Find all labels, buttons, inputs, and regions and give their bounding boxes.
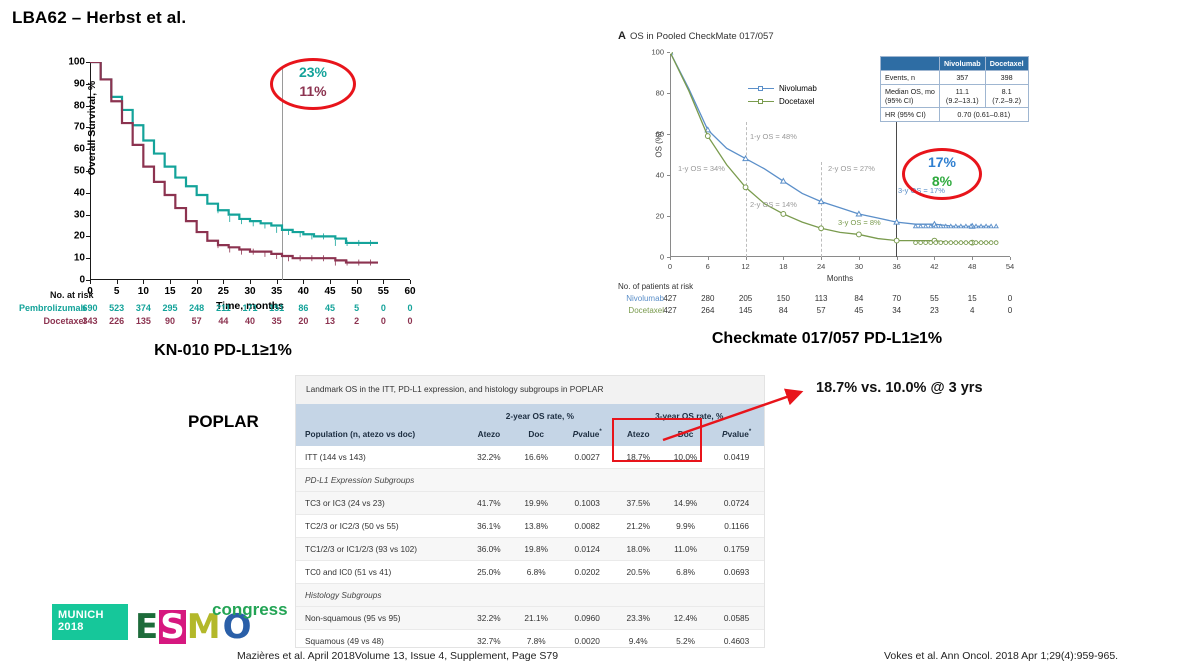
checkmate-x-tick-label: 54 [1006,262,1014,271]
checkmate-x-tick-label: 12 [741,262,749,271]
checkmate-y-tick-label: 100 [651,48,664,57]
checkmate-legend-item-nivolumab: Nivolumab [748,84,817,93]
checkmate-annotation-2y-docetaxel: 2-y OS = 14% [750,200,797,209]
kn010-y-tick-label: 10 [74,253,85,264]
checkmate-annotation-3y-docetaxel: 3-y OS = 8% [838,218,881,227]
poplar-cell-y3-atezo: 23.3% [615,607,662,630]
checkmate-censor-mark [989,241,993,245]
checkmate-risk-cell: 84 [779,306,788,315]
checkmate-risk-cell: 57 [817,306,826,315]
stats-median-docetaxel: 8.1 (7.2–9.2) [985,85,1028,108]
checkmate-y-tick-label: 40 [656,171,664,180]
poplar-cell-y3-doc: 14.9% [662,492,709,515]
kn010-x-tick-label: 20 [191,286,202,297]
poplar-section-row: Histology Subgroups [296,584,764,607]
kn010-risk-cell: 374 [136,303,151,313]
table-row: Squamous (49 vs 48)32.7%7.8%0.00209.4%5.… [296,630,764,649]
median-os-line1: Median OS, mo [885,87,935,96]
table-row: Median OS, mo (95% CI) 11.1 (9.2–13.1) 8… [881,85,1029,108]
kn010-risk-cell: 2 [354,316,359,326]
checkmate-x-tick-label: 30 [855,262,863,271]
kn010-risk-row-label: Pembrolizumab [18,303,86,313]
poplar-cell-y2-p: 0.1003 [560,492,615,515]
table-row: TC1/2/3 or IC1/2/3 (93 vs 102)36.0%19.8%… [296,538,764,561]
kn010-risk-cell: 248 [189,303,204,313]
kn010-x-tick-mark [303,280,304,284]
esmo-munich-badge: MUNICH 2018 [52,604,128,640]
kn010-x-tick-mark [277,280,278,284]
poplar-row-population: Squamous (49 vs 48) [296,630,465,649]
citation-right: Vokes et al. Ann Oncol. 2018 Apr 1;29(4)… [884,650,1118,662]
checkmate-data-marker [856,211,861,216]
checkmate-risk-cell: 45 [854,306,863,315]
kn010-y-tick-label: 100 [68,57,85,68]
esmo-congress-text: congress [212,600,288,620]
checkmate-data-marker [781,212,786,217]
kn010-risk-cell: 0 [381,316,386,326]
poplar-row-population: TC2/3 or IC2/3 (50 vs 55) [296,515,465,538]
checkmate-data-marker [705,134,710,139]
checkmate-chart-panel: AOS in Pooled CheckMate 017/057 OS (%) M… [612,30,1042,330]
checkmate-y-axis-label: OS (%) [655,110,664,180]
poplar-cell-y2-doc: 19.9% [513,492,560,515]
checkmate-data-marker [856,232,861,237]
poplar-cell-y3-p: 0.0693 [709,561,764,584]
poplar-red-note: 18.7% vs. 10.0% @ 3 yrs [816,380,983,396]
checkmate-censor-mark [954,241,958,245]
checkmate-censor-mark [984,241,988,245]
kn010-x-tick-mark [90,280,91,284]
kn010-x-tick-mark [223,280,224,284]
median-docetaxel-value: 8.1 [1002,87,1012,96]
checkmate-censor-mark [944,241,948,245]
table-row: TC3 or IC3 (24 vs 23)41.7%19.9%0.100337.… [296,492,764,515]
poplar-cell-y2-p: 0.0082 [560,515,615,538]
kn010-x-tick-label: 55 [378,286,389,297]
citation-left: Mazières et al. April 2018Volume 13, Iss… [237,650,558,662]
nivolumab-line-icon [748,88,774,89]
poplar-cell-y2-doc: 6.8% [513,561,560,584]
kn010-y-tick-label: 50 [74,166,85,177]
checkmate-panel-title-text: OS in Pooled CheckMate 017/057 [630,31,774,42]
poplar-cell-y3-doc: 11.0% [662,538,709,561]
stats-row-label-median-os: Median OS, mo (95% CI) [881,85,940,108]
checkmate-risk-cell: 264 [701,306,714,315]
kn010-x-tick-label: 15 [164,286,175,297]
checkmate-censor-mark [979,241,983,245]
checkmate-censor-mark [994,241,998,245]
kn010-y-tick-label: 20 [74,231,85,242]
poplar-cell-y2-p: 0.0027 [560,446,615,469]
checkmate-x-tick-mark [1010,257,1011,260]
kn010-risk-cell: 90 [165,316,175,326]
stats-col-blank [881,57,940,71]
checkmate-risk-cell: 23 [930,306,939,315]
checkmate-risk-cell: 84 [854,294,863,303]
checkmate-risk-cell: 205 [739,294,752,303]
kn010-x-tick-label: 60 [404,286,415,297]
kn010-risk-cell: 86 [298,303,308,313]
checkmate-risk-cell: 427 [663,306,676,315]
checkmate-panel-title: AOS in Pooled CheckMate 017/057 [618,30,774,42]
checkmate-y-tick-label: 0 [660,253,664,262]
poplar-cell-y3-p: 0.1759 [709,538,764,561]
poplar-row-population: TC1/2/3 or IC1/2/3 (93 vs 102) [296,538,465,561]
checkmate-legend-item-docetaxel: Docetaxel [748,97,817,106]
checkmate-x-tick-label: 0 [668,262,672,271]
median-nivolumab-value: 11.1 [956,87,969,96]
poplar-cell-y2-doc: 13.8% [513,515,560,538]
poplar-cell-y3-doc: 12.4% [662,607,709,630]
checkmate-censor-mark [984,224,988,228]
table-row: HR (95% CI) 0.70 (0.61–0.81) [881,108,1029,122]
stats-row-label-hr: HR (95% CI) [881,108,940,122]
kn010-x-tick-label: 45 [324,286,335,297]
checkmate-risk-cell: 55 [930,294,939,303]
table-row: TC0 and IC0 (51 vs 41)25.0%6.8%0.020220.… [296,561,764,584]
median-docetaxel-ci: (7.2–9.2) [992,96,1021,105]
kn010-risk-cell: 35 [272,316,282,326]
checkmate-data-marker [894,238,899,243]
poplar-cell-y3-atezo: 20.5% [615,561,662,584]
kn010-x-tick-mark [117,280,118,284]
checkmate-censor-mark [929,241,933,245]
poplar-cell-y2-p: 0.0124 [560,538,615,561]
checkmate-risk-cell: 113 [815,294,828,303]
checkmate-risk-cell: 0 [1008,294,1012,303]
esmo-munich-line2: 2018 [58,621,84,633]
checkmate-censor-mark [954,224,958,228]
kn010-y-tick-label: 90 [74,78,85,89]
checkmate-risk-cell: 4 [970,306,974,315]
checkmate-callout-docetaxel: 8% [902,173,982,189]
kn010-y-tick-label: 0 [79,275,85,286]
checkmate-annotation-1y-nivolumab: 1-y OS = 48% [750,132,797,141]
red-arrow-annotation [655,378,815,448]
kn010-risk-cell: 0 [381,303,386,313]
kn010-risk-cell: 690 [82,303,97,313]
stats-events-docetaxel: 398 [985,71,1028,85]
kn010-x-tick-label: 40 [298,286,309,297]
kn010-x-tick-mark [143,280,144,284]
checkmate-censor-mark [969,241,973,245]
checkmate-censor-mark [964,224,968,228]
checkmate-data-marker [819,199,824,204]
esmo-letter-e: E [134,610,159,644]
kn010-y-tick-label: 30 [74,209,85,220]
kn010-risk-cell: 5 [354,303,359,313]
kn010-callout-docetaxel: 11% [270,83,356,99]
poplar-section-label: PD-L1 Expression Subgroups [296,469,764,492]
table-row: TC2/3 or IC2/3 (50 vs 55)36.1%13.8%0.008… [296,515,764,538]
checkmate-censor-mark [979,224,983,228]
kn010-risk-cell: 57 [192,316,202,326]
kn010-chart-panel: Overall Survival, % Time, months 0102030… [18,52,438,342]
kn010-x-tick-label: 5 [114,286,120,297]
kn010-risk-cell: 0 [407,316,412,326]
kn010-risk-cell: 135 [136,316,151,326]
poplar-cell-y2-atezo: 32.7% [465,630,512,649]
kn010-x-tick-label: 10 [138,286,149,297]
checkmate-x-tick-label: 42 [930,262,938,271]
kn010-risk-cell: 40 [245,316,255,326]
stats-median-nivolumab: 11.1 (9.2–13.1) [939,85,985,108]
poplar-cell-y3-atezo: 21.2% [615,515,662,538]
table-row: Non-squamous (95 vs 95)32.2%21.1%0.09602… [296,607,764,630]
poplar-row-population: ITT (144 vs 143) [296,446,465,469]
checkmate-x-tick-mark [670,257,671,260]
poplar-cell-y2-atezo: 32.2% [465,607,512,630]
kn010-x-tick-mark [330,280,331,284]
checkmate-legend-label-docetaxel: Docetaxel [779,97,815,106]
poplar-cell-y2-doc: 21.1% [513,607,560,630]
poplar-section-row: PD-L1 Expression Subgroups [296,469,764,492]
poplar-group-2yr: 2-year OS rate, % [465,404,614,425]
stats-hr-value: 0.70 (0.61–0.81) [939,108,1028,122]
kn010-risk-cell: 343 [82,316,97,326]
poplar-cell-y3-doc: 9.9% [662,515,709,538]
kn010-caption: KN-010 PD-L1≥1% [58,342,388,360]
kn010-survival-curves [90,62,410,280]
kn010-y-tick-label: 60 [74,144,85,155]
checkmate-risk-row-label: Docetaxel [612,306,664,315]
poplar-col-2yr-pvalue: Pvalue* [560,425,615,446]
checkmate-risk-cell: 0 [1008,306,1012,315]
esmo-congress-logo: MUNICH 2018 ESMO congress [52,600,282,644]
checkmate-x-tick-label: 18 [779,262,787,271]
poplar-cell-y3-atezo: 9.4% [615,630,662,649]
kn010-y-tick-label: 70 [74,122,85,133]
checkmate-censor-mark [989,224,993,228]
checkmate-censor-mark [949,224,953,228]
poplar-cell-y2-doc: 7.8% [513,630,560,649]
stats-row-label-events: Events, n [881,71,940,85]
checkmate-censor-mark [924,241,928,245]
checkmate-censor-mark [959,241,963,245]
checkmate-censor-mark [964,241,968,245]
poplar-cell-y2-p: 0.0960 [560,607,615,630]
slide-canvas: LBA62 – Herbst et al. Overall Survival, … [0,0,1195,671]
kn010-risk-cell: 45 [325,303,335,313]
poplar-cell-y3-p: 0.4603 [709,630,764,649]
kn010-risk-header: No. at risk [50,290,94,300]
checkmate-censor-mark [994,224,998,228]
checkmate-y-tick-label: 80 [656,89,664,98]
kn010-risk-cell: 13 [325,316,335,326]
poplar-cell-y3-p: 0.0419 [709,446,764,469]
checkmate-x-tick-mark [708,257,709,260]
checkmate-censor-mark [939,241,943,245]
checkmate-risk-cell: 70 [892,294,901,303]
kn010-risk-cell: 226 [109,316,124,326]
poplar-row-population: Non-squamous (95 vs 95) [296,607,465,630]
docetaxel-line-icon [748,101,774,102]
poplar-cell-y3-p: 0.0724 [709,492,764,515]
checkmate-x-tick-mark [746,257,747,260]
poplar-cell-y2-atezo: 32.2% [465,446,512,469]
poplar-cell-y2-doc: 16.6% [513,446,560,469]
checkmate-censor-mark [959,224,963,228]
poplar-cell-y3-p: 0.0585 [709,607,764,630]
checkmate-risk-row-label: Nivolumab [612,294,664,303]
kn010-risk-cell: 151 [269,303,284,313]
checkmate-x-tick-mark [972,257,973,260]
checkmate-legend: Nivolumab Docetaxel [748,84,817,110]
kn010-x-tick-label: 30 [244,286,255,297]
page-title: LBA62 – Herbst et al. [12,8,186,28]
median-os-line2: (95% CI) [885,96,913,105]
poplar-row-population: TC0 and IC0 (51 vs 41) [296,561,465,584]
poplar-section-label: Histology Subgroups [296,584,764,607]
checkmate-x-tick-label: 6 [706,262,710,271]
kn010-x-tick-mark [357,280,358,284]
checkmate-x-tick-label: 24 [817,262,825,271]
poplar-col-2yr-doc: Doc [513,425,560,446]
checkmate-risk-cell: 427 [663,294,676,303]
checkmate-stats-table: Nivolumab Docetaxel Events, n 357 398 Me… [880,56,1029,122]
poplar-cell-y2-p: 0.0202 [560,561,615,584]
checkmate-annotation-1y-docetaxel: 1-y OS = 34% [678,164,725,173]
poplar-group-blank [296,404,465,425]
poplar-cell-y2-atezo: 36.1% [465,515,512,538]
kn010-x-tick-label: 50 [351,286,362,297]
kn010-risk-cell: 20 [298,316,308,326]
poplar-col-population: Population (n, atezo vs doc) [296,425,465,446]
checkmate-y-tick-label: 20 [656,212,664,221]
kn010-risk-cell: 171 [242,303,257,313]
checkmate-censor-mark [919,241,923,245]
kn010-x-tick-mark [250,280,251,284]
checkmate-x-tick-mark [783,257,784,260]
kn010-risk-cell: 523 [109,303,124,313]
kn010-risk-cell: 44 [218,316,228,326]
poplar-cell-y2-atezo: 36.0% [465,538,512,561]
poplar-cell-y3-p: 0.1166 [709,515,764,538]
checkmate-panel-letter: A [618,30,626,42]
median-nivolumab-ci: (9.2–13.1) [946,96,979,105]
checkmate-x-tick-label: 36 [892,262,900,271]
checkmate-legend-label-nivolumab: Nivolumab [779,84,817,93]
checkmate-x-tick-mark [821,257,822,260]
poplar-cell-y3-atezo: 18.0% [615,538,662,561]
stats-col-docetaxel: Docetaxel [985,57,1028,71]
kn010-y-tick-label: 80 [74,100,85,111]
checkmate-risk-cell: 15 [968,294,977,303]
poplar-col-2yr-atezo: Atezo [465,425,512,446]
stats-events-nivolumab: 357 [939,71,985,85]
poplar-cell-y2-doc: 19.8% [513,538,560,561]
kn010-x-tick-label: 25 [218,286,229,297]
checkmate-data-marker [819,226,824,231]
table-row: Events, n 357 398 [881,71,1029,85]
poplar-cell-y2-atezo: 25.0% [465,561,512,584]
poplar-cell-y3-doc: 6.8% [662,561,709,584]
checkmate-risk-cell: 280 [701,294,714,303]
poplar-cell-y2-p: 0.0020 [560,630,615,649]
kn010-risk-row-label: Docetaxel [18,316,86,326]
kn010-x-tick-mark [410,280,411,284]
checkmate-censor-mark [974,241,978,245]
checkmate-x-tick-mark [934,257,935,260]
checkmate-risk-cell: 145 [739,306,752,315]
poplar-row-population: TC3 or IC3 (24 vs 23) [296,492,465,515]
checkmate-risk-header: No. of patients at risk [618,282,693,291]
checkmate-x-tick-label: 48 [968,262,976,271]
checkmate-risk-cell: 34 [892,306,901,315]
checkmate-censor-mark [914,241,918,245]
kn010-risk-cell: 295 [162,303,177,313]
esmo-letter-s: S [159,610,186,644]
kn010-callout-pembrolizumab: 23% [270,64,356,80]
poplar-cell-y3-atezo: 37.5% [615,492,662,515]
checkmate-censor-mark [949,241,953,245]
kn010-risk-cell: 0 [407,303,412,313]
checkmate-data-marker [743,156,748,161]
kn010-y-tick-label: 40 [74,187,85,198]
table-header-row: Nivolumab Docetaxel [881,57,1029,71]
checkmate-x-tick-mark [897,257,898,260]
checkmate-callout-nivolumab: 17% [902,154,982,170]
poplar-cell-y3-doc: 5.2% [662,630,709,649]
kn010-x-tick-label: 35 [271,286,282,297]
kn010-x-tick-mark [383,280,384,284]
stats-col-nivolumab: Nivolumab [939,57,985,71]
kn010-x-tick-mark [170,280,171,284]
checkmate-data-marker [894,220,899,225]
checkmate-data-marker [670,52,672,54]
poplar-cell-y2-atezo: 41.7% [465,492,512,515]
checkmate-censor-mark [974,224,978,228]
poplar-label: POPLAR [188,412,259,432]
checkmate-annotation-2y-nivolumab: 2-y OS = 27% [828,164,875,173]
checkmate-censor-mark [934,241,938,245]
kn010-x-tick-mark [197,280,198,284]
checkmate-x-axis-label: Months [670,274,1010,283]
checkmate-x-tick-mark [859,257,860,260]
esmo-munich-line1: MUNICH [58,609,104,621]
kn010-risk-cell: 211 [216,303,231,313]
checkmate-y-tick-label: 60 [656,130,664,139]
kn010-plot-area: Overall Survival, % Time, months 0102030… [90,62,410,280]
checkmate-caption: Checkmate 017/057 PD-L1≥1% [612,330,1042,348]
checkmate-risk-cell: 150 [777,294,790,303]
checkmate-data-marker [743,185,748,190]
